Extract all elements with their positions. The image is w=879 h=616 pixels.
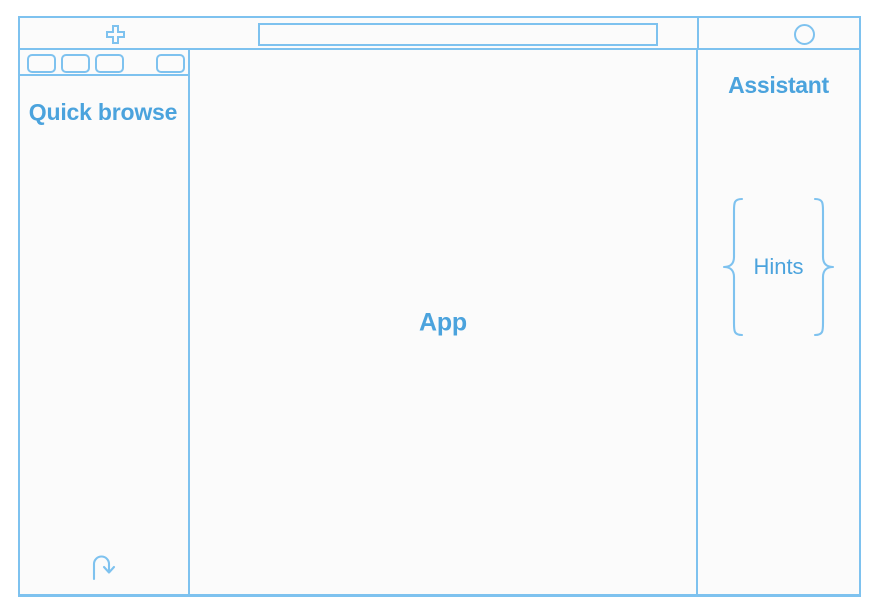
app-panel[interactable]: App — [190, 50, 696, 595]
app-panel-label: App — [190, 308, 696, 337]
wireframe-canvas: Quick browse App — [0, 0, 879, 616]
add-tab-button[interactable] — [100, 22, 130, 46]
u-turn-arrow-icon — [87, 551, 119, 581]
sidebar-body: Quick browse — [20, 76, 188, 595]
sidebar-panel: Quick browse — [20, 50, 190, 595]
left-curly-brace-icon — [721, 197, 747, 337]
address-bar-input[interactable] — [258, 23, 658, 46]
new-tab-chip-icon[interactable] — [156, 54, 185, 73]
account-section-divider — [697, 18, 699, 48]
tab-chip-icon[interactable] — [61, 54, 90, 73]
hints-block: Hints — [698, 194, 859, 339]
plus-icon — [106, 25, 125, 44]
assistant-panel: Assistant Hints — [696, 50, 859, 595]
hints-label: Hints — [747, 254, 809, 280]
sidebar-footer-action[interactable] — [20, 551, 186, 581]
sidebar-title: Quick browse — [20, 98, 186, 128]
top-chrome-bar — [20, 18, 859, 50]
tab-chip-icon[interactable] — [27, 54, 56, 73]
main-columns: Quick browse App — [20, 50, 859, 595]
circle-avatar-icon[interactable] — [794, 24, 815, 45]
sidebar-tab-strip — [20, 50, 188, 76]
assistant-title: Assistant — [698, 72, 859, 99]
tab-chip-icon[interactable] — [95, 54, 124, 73]
right-curly-brace-icon — [810, 197, 836, 337]
window-bottom-rule — [18, 594, 861, 597]
browser-window-frame: Quick browse App — [18, 16, 861, 597]
